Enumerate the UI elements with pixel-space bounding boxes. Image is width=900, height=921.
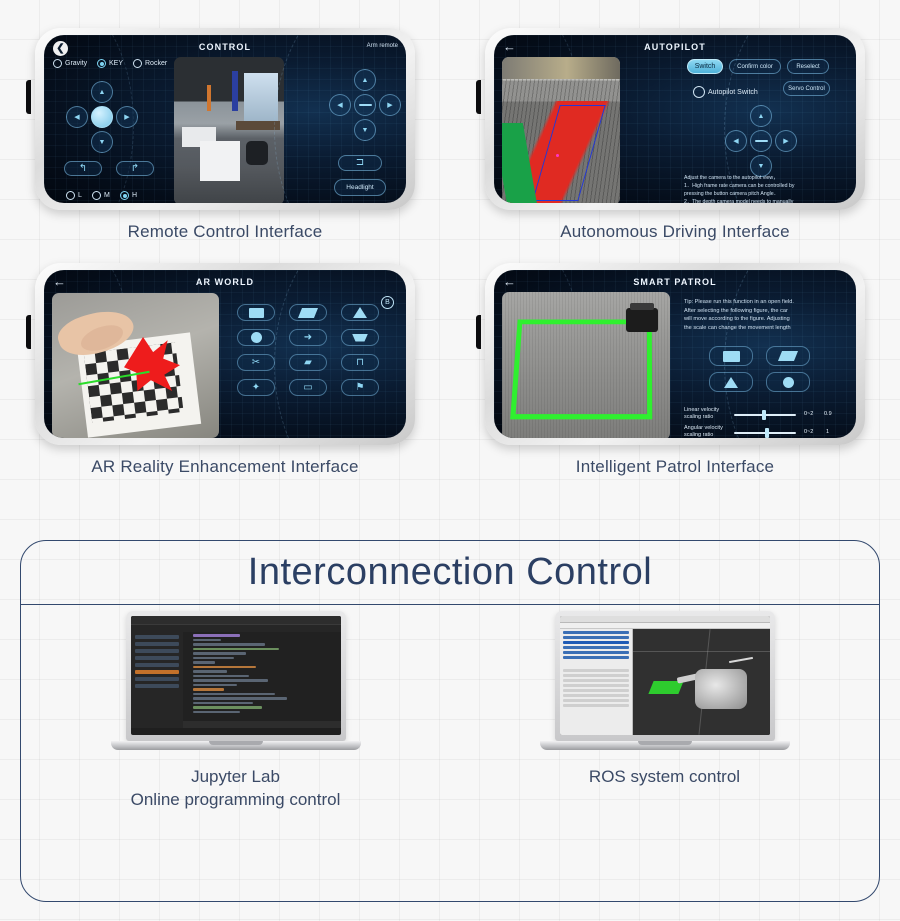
servo-control-button[interactable]: Servo Control — [783, 81, 830, 96]
display-row — [563, 651, 629, 654]
ar-shape-arrow[interactable]: ➜ — [289, 329, 327, 346]
file-row — [135, 642, 179, 646]
parallelogram-icon — [298, 308, 318, 318]
camera-dpad[interactable]: ▲ ▼ ◀ ▶ — [725, 105, 797, 177]
grid-line — [633, 651, 770, 652]
target-point-marker — [556, 154, 559, 157]
property-row — [563, 674, 629, 677]
radio-dot-icon — [92, 191, 101, 200]
phone-mockup: ← SMART PATROL Tip: Please run this func… — [485, 263, 865, 445]
laptop-base — [111, 741, 361, 750]
interconnection-control-section: Interconnection Control — [20, 540, 880, 902]
panel-autonomous-driving: ← AUTOPILOT Switch Confirm color — [450, 28, 900, 242]
rectangle-icon — [249, 308, 264, 318]
rotate-right-icon: ↱ — [131, 164, 139, 174]
triangle-down-icon: ▼ — [99, 139, 106, 146]
panel-remote-control: ❮ CONTROL Arm remote Gravity KEY Rocker — [0, 28, 450, 242]
laptop-item-ros: ROS system control — [450, 611, 879, 811]
slider-label-line: Linear velocity — [684, 407, 719, 413]
code-line — [193, 679, 269, 682]
arm-level-indicator[interactable] — [354, 94, 376, 116]
code-line — [193, 688, 225, 691]
code-line — [193, 634, 240, 637]
triangle-right-icon: ▶ — [387, 102, 392, 109]
linear-velocity-slider[interactable] — [734, 410, 796, 420]
code-line — [193, 706, 263, 709]
window-shape — [244, 73, 278, 121]
radio-dot-icon — [133, 59, 142, 68]
angular-velocity-label: Angular velocity scaling ratio — [684, 425, 723, 438]
instruction-line: Adjust the camera to the autopilot view， — [684, 174, 856, 182]
code-line — [193, 711, 240, 714]
notebook-editor — [183, 632, 341, 728]
ar-object-book[interactable]: ▰ — [289, 354, 327, 371]
button-label: Switch — [695, 63, 716, 70]
caption-line: Jupyter Lab — [191, 767, 280, 786]
code-line — [193, 648, 280, 651]
rectangle-icon — [723, 351, 740, 362]
bench-icon: ▭ — [303, 383, 312, 393]
caption-line: ROS system control — [589, 767, 740, 786]
robot-antenna — [729, 657, 753, 663]
angular-velocity-slider[interactable] — [734, 428, 796, 438]
menu-bar — [131, 625, 341, 632]
patrol-shape-parallelogram[interactable] — [766, 346, 810, 366]
display-row — [563, 631, 629, 634]
patrol-shape-circle[interactable] — [766, 372, 810, 392]
angular-velocity-value: 1 — [826, 429, 829, 435]
code-line — [193, 693, 275, 696]
code-line — [193, 639, 221, 642]
headlight-button[interactable]: Headlight — [334, 179, 386, 196]
triangle-up-icon: ▲ — [362, 77, 369, 84]
tip-line: will move according to the figure. Adjus… — [684, 315, 856, 324]
camera-feed-road — [502, 57, 620, 203]
button-label: Servo Control — [788, 86, 825, 92]
arm-right-button[interactable]: ▶ — [379, 94, 401, 116]
ar-shape-parallelogram[interactable] — [289, 304, 327, 321]
laptop-mockup — [111, 611, 361, 750]
headlight-label: Headlight — [346, 184, 373, 191]
caption-line: Online programming control — [131, 790, 341, 809]
slider-label-line: scaling ratio — [684, 432, 713, 438]
slider-label-line: scaling ratio — [684, 414, 713, 420]
person-icon: ✦ — [252, 383, 260, 393]
display-row-selected — [563, 641, 629, 644]
triangle-up-icon: ▲ — [99, 89, 106, 96]
ar-object-flag[interactable]: ⚑ — [341, 379, 379, 396]
tip-line: Tip: Please run this function in an open… — [684, 298, 856, 307]
arrow-right-icon: ➜ — [304, 333, 312, 343]
file-browser-sidebar — [131, 632, 183, 728]
code-line — [193, 657, 234, 660]
triangle-down-icon: ▼ — [362, 127, 369, 134]
button-label: Reselect — [796, 64, 819, 70]
phone-mockup: ← AR WORLD B ➜ ✂ — [35, 263, 415, 445]
speed-medium[interactable]: M — [92, 191, 110, 200]
laptop-item-jupyter: Jupyter Lab Online programming control — [21, 611, 450, 811]
laptop-showcase: Jupyter Lab Online programming control — [21, 611, 879, 811]
confirm-color-button[interactable]: Confirm color — [729, 59, 781, 74]
speed-label: L — [78, 192, 82, 199]
movement-dpad[interactable]: ▲ ▼ ◀ ▶ — [66, 81, 138, 153]
camera-feed-patrol — [502, 292, 670, 438]
triangle-left-icon: ◀ — [74, 114, 79, 121]
triangle-left-icon: ◀ — [733, 138, 738, 145]
code-line — [193, 661, 215, 664]
camera-center-button[interactable] — [750, 130, 772, 152]
chair-shape — [246, 141, 268, 165]
slider-label-line: Angular velocity — [684, 425, 723, 431]
radio-dot-icon — [53, 59, 62, 68]
tip-line: the scale can change the movement length — [684, 324, 856, 333]
triangle-right-icon: ▶ — [783, 138, 788, 145]
mode-key[interactable]: KEY — [97, 59, 123, 68]
horizontal-line-icon — [359, 104, 372, 106]
file-row — [135, 677, 179, 681]
slider-track — [734, 432, 796, 434]
mode-label: KEY — [109, 60, 123, 67]
book-icon: ▰ — [304, 358, 312, 368]
horizontal-line-icon — [755, 140, 768, 142]
display-row — [563, 646, 629, 649]
mode-label: Gravity — [65, 60, 87, 67]
camera-feed-ar — [52, 293, 219, 438]
reselect-button[interactable]: Reselect — [787, 59, 829, 74]
linear-velocity-label: Linear velocity scaling ratio — [684, 407, 719, 422]
button-label: Confirm color — [737, 64, 773, 70]
phone-mockup: ← AUTOPILOT Switch Confirm color — [485, 28, 865, 210]
patrol-path-overlay — [510, 320, 652, 420]
rotate-left-icon: ↰ — [79, 164, 87, 174]
property-row — [563, 689, 629, 692]
desk-shape — [200, 141, 240, 181]
phone-side-button — [476, 80, 481, 114]
mode-gravity[interactable]: Gravity — [53, 59, 87, 68]
speed-label: M — [104, 192, 110, 199]
browser-topbar — [131, 616, 341, 625]
tools-icon: ✂ — [252, 358, 260, 368]
circle-icon — [783, 377, 794, 388]
display-row — [563, 636, 629, 639]
file-row — [135, 649, 179, 653]
file-row — [135, 656, 179, 660]
property-row — [563, 699, 629, 702]
phone-screen-ar-world: ← AR WORLD B ➜ ✂ — [44, 270, 406, 438]
code-line — [193, 666, 256, 669]
arm-up-button[interactable]: ▲ — [354, 69, 376, 91]
radio-dot-icon — [66, 191, 75, 200]
building-shape — [502, 57, 620, 79]
tip-line: After selecting the following figure, th… — [684, 307, 856, 316]
joystick-knob[interactable] — [91, 106, 113, 128]
ar-object-table[interactable]: ⊓ — [341, 354, 379, 371]
phone-side-button — [26, 80, 31, 114]
mode-rocker[interactable]: Rocker — [133, 59, 167, 68]
laptop-caption: Jupyter Lab Online programming control — [131, 766, 341, 811]
patrol-shape-rectangle[interactable] — [709, 346, 753, 366]
code-line — [193, 675, 250, 678]
ar-shape-circle[interactable] — [237, 329, 275, 346]
robot-car — [626, 308, 658, 332]
radio-dot-icon — [97, 59, 106, 68]
slider-track — [734, 414, 796, 416]
screen-title: AUTOPILOT — [494, 42, 856, 52]
arm-dpad[interactable]: ▲ ▼ ◀ ▶ — [329, 69, 401, 141]
rviz-3d-viewport — [633, 629, 770, 735]
slider-thumb[interactable] — [765, 428, 769, 438]
screen-title: AR WORLD — [44, 277, 406, 287]
camera-up-button[interactable]: ▲ — [750, 105, 772, 127]
display-row — [563, 656, 629, 659]
code-line — [193, 670, 228, 673]
panel-ar-world: ← AR WORLD B ➜ ✂ — [0, 263, 450, 477]
property-row — [563, 704, 629, 707]
panel-caption: Remote Control Interface — [0, 222, 450, 242]
panel-caption: Intelligent Patrol Interface — [450, 457, 900, 477]
gripper-button[interactable]: ⊐ — [338, 155, 382, 171]
flag-icon: ⚑ — [356, 383, 365, 393]
autopilot-switch-toggle[interactable]: Autopilot Switch — [693, 86, 758, 98]
camera-feed-office — [174, 57, 284, 203]
speed-low[interactable]: L — [66, 191, 82, 200]
camera-right-button[interactable]: ▶ — [775, 130, 797, 152]
angular-velocity-range: 0~2 — [804, 429, 813, 435]
ar-object-bench[interactable]: ▭ — [289, 379, 327, 396]
triangle-up-icon: ▲ — [758, 113, 765, 120]
panel-caption: Autonomous Driving Interface — [450, 222, 900, 242]
laptop-base — [540, 741, 790, 750]
code-line — [193, 697, 288, 700]
patrol-shape-triangle[interactable] — [709, 372, 753, 392]
code-line — [193, 652, 247, 655]
code-line — [193, 643, 266, 646]
ar-shape-triangle[interactable] — [341, 304, 379, 321]
radio-dot-icon — [693, 86, 705, 98]
screen-title: SMART PATROL — [494, 277, 856, 287]
ar-shape-rectangle[interactable] — [237, 304, 275, 321]
interface-panels-grid: ❮ CONTROL Arm remote Gravity KEY Rocker — [0, 0, 900, 510]
phone-screen-control: ❮ CONTROL Arm remote Gravity KEY Rocker — [44, 35, 406, 203]
autopilot-instructions: Adjust the camera to the autopilot view，… — [684, 174, 856, 203]
laptop-lid — [126, 611, 346, 741]
table-icon: ⊓ — [356, 358, 364, 368]
radio-dot-icon — [120, 191, 129, 200]
toggle-label: Autopilot Switch — [708, 89, 758, 96]
status-bar — [183, 721, 341, 728]
property-row — [563, 669, 629, 672]
triangle-icon — [353, 307, 367, 318]
triangle-left-icon: ◀ — [337, 102, 342, 109]
robot-model — [695, 669, 747, 709]
panel-caption: AR Reality Enhancement Interface — [0, 457, 450, 477]
code-line — [193, 684, 237, 687]
window-titlebar — [560, 616, 770, 623]
dpad-up-button[interactable]: ▲ — [91, 81, 113, 103]
ar-shape-trapezoid[interactable] — [341, 329, 379, 346]
pillar-blue — [232, 71, 238, 111]
arm-down-button[interactable]: ▼ — [354, 119, 376, 141]
section-title: Interconnection Control — [248, 551, 652, 594]
property-row — [563, 684, 629, 687]
triangle-right-icon: ▶ — [124, 114, 129, 121]
ros-rviz-screen — [560, 616, 770, 735]
arm-remote-label: Arm remote — [367, 43, 398, 49]
gripper-icon: ⊐ — [356, 158, 364, 168]
patrol-tip: Tip: Please run this function in an open… — [684, 298, 856, 333]
rotate-right-button[interactable]: ↱ — [116, 161, 154, 176]
dpad-down-button[interactable]: ▼ — [91, 131, 113, 153]
laptop-mockup — [540, 611, 790, 750]
circle-icon — [251, 332, 262, 343]
pillar-orange — [207, 85, 211, 111]
mode-label: Rocker — [145, 60, 167, 67]
record-save-icon[interactable]: B — [381, 296, 394, 309]
phone-mockup: ❮ CONTROL Arm remote Gravity KEY Rocker — [35, 28, 415, 210]
desk-shape — [236, 121, 280, 130]
ar-object-tools[interactable]: ✂ — [237, 354, 275, 371]
file-row-selected — [135, 670, 179, 674]
phone-side-button — [26, 315, 31, 349]
phone-screen-autopilot: ← AUTOPILOT Switch Confirm color — [494, 35, 856, 203]
phone-screen-smart-patrol: ← SMART PATROL Tip: Please run this func… — [494, 270, 856, 438]
linear-velocity-range: 0~2 — [804, 411, 813, 417]
parallelogram-icon — [778, 351, 798, 361]
rotate-left-button[interactable]: ↰ — [64, 161, 102, 176]
trapezoid-icon — [352, 334, 368, 342]
instruction-line: pressing the button camera pitch Angle． — [684, 190, 856, 198]
file-row — [135, 663, 179, 667]
dpad-right-button[interactable]: ▶ — [116, 106, 138, 128]
screen-title: CONTROL — [44, 42, 406, 52]
phone-side-button — [476, 315, 481, 349]
instruction-line: 2．The depth camera model needs to manual… — [684, 198, 856, 203]
rviz-displays-panel — [560, 629, 633, 735]
jupyter-lab-screen — [131, 616, 341, 735]
speed-high[interactable]: H — [120, 191, 137, 200]
arm-left-button[interactable]: ◀ — [329, 94, 351, 116]
code-line — [193, 702, 253, 705]
switch-button[interactable]: Switch — [687, 59, 723, 74]
laptop-lid — [555, 611, 775, 741]
slider-thumb[interactable] — [762, 410, 766, 420]
property-row — [563, 694, 629, 697]
dpad-left-button[interactable]: ◀ — [66, 106, 88, 128]
file-row — [135, 635, 179, 639]
triangle-icon — [724, 377, 738, 388]
file-row — [135, 684, 179, 688]
speed-label: H — [132, 192, 137, 199]
panel-smart-patrol: ← SMART PATROL Tip: Please run this func… — [450, 263, 900, 477]
property-row — [563, 679, 629, 682]
laptop-caption: ROS system control — [589, 766, 740, 789]
section-header: Interconnection Control — [21, 541, 879, 605]
linear-velocity-value: 0.9 — [824, 411, 832, 417]
instruction-line: 1．High frame rate camera can be controll… — [684, 182, 856, 190]
triangle-down-icon: ▼ — [758, 163, 765, 170]
camera-left-button[interactable]: ◀ — [725, 130, 747, 152]
ar-object-person[interactable]: ✦ — [237, 379, 275, 396]
